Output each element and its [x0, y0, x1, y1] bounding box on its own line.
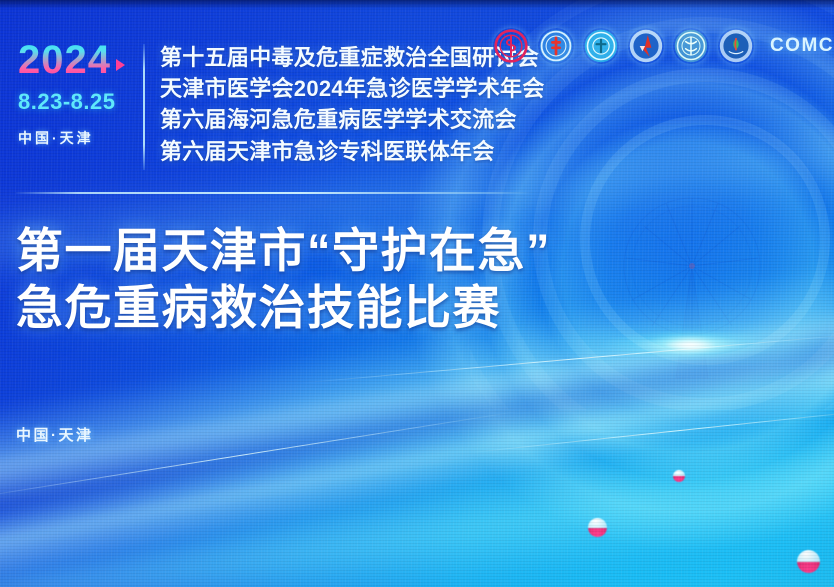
conference-title-line: 天津市医学会2024年急诊医学学术年会 — [160, 73, 550, 104]
year-label: 2024 — [18, 40, 111, 80]
conference-title-line: 第十五届中毒及危重症救治全国研讨会 — [160, 42, 550, 73]
footer-city-label: 中国·天津 — [16, 424, 94, 445]
conference-title-line: 第六届天津市急诊专科医联体年会 — [160, 136, 550, 167]
logo-cyan-medical — [583, 28, 619, 64]
logo-red-white-chevron — [628, 28, 664, 64]
logo-blue-green-crest — [718, 28, 754, 64]
conference-title-list: 第十五届中毒及危重症救治全国研讨会 天津市医学会2024年急诊医学学术年会 第六… — [160, 42, 550, 167]
header-block: 2024 8.23-8.25 中国·天津 第十五届中毒及危重症救治全国研讨会 天… — [0, 0, 560, 200]
header-city-label: 中国·天津 — [18, 128, 138, 148]
header-divider-rule — [16, 192, 532, 194]
conference-title-line: 第六届海河急危重病医学学术交流会 — [160, 104, 550, 135]
triangle-right-icon — [116, 59, 125, 71]
logo-crimson-snake-staff — [493, 28, 529, 64]
headline-line: 急危重病救治技能比赛 — [16, 279, 596, 336]
date-column: 2024 8.23-8.25 中国·天津 — [18, 40, 138, 148]
logo-blue-red-emblem — [538, 28, 574, 64]
poster-content: 2024 8.23-8.25 中国·天津 第十五届中毒及危重症救治全国研讨会 天… — [0, 0, 834, 587]
date-range-label: 8.23-8.25 — [18, 89, 138, 115]
vertical-divider — [143, 44, 145, 170]
logo-teal-caduceus — [673, 28, 709, 64]
partner-text-label: COMC — [770, 35, 834, 57]
partner-logo-strip: COMC — [493, 26, 834, 66]
headline-line: 第一届天津市“守护在急” — [16, 222, 596, 279]
main-headline: 第一届天津市“守护在急” 急危重病救治技能比赛 — [16, 222, 596, 337]
led-backdrop-stage: 2024 8.23-8.25 中国·天津 第十五届中毒及危重症救治全国研讨会 天… — [0, 0, 834, 587]
